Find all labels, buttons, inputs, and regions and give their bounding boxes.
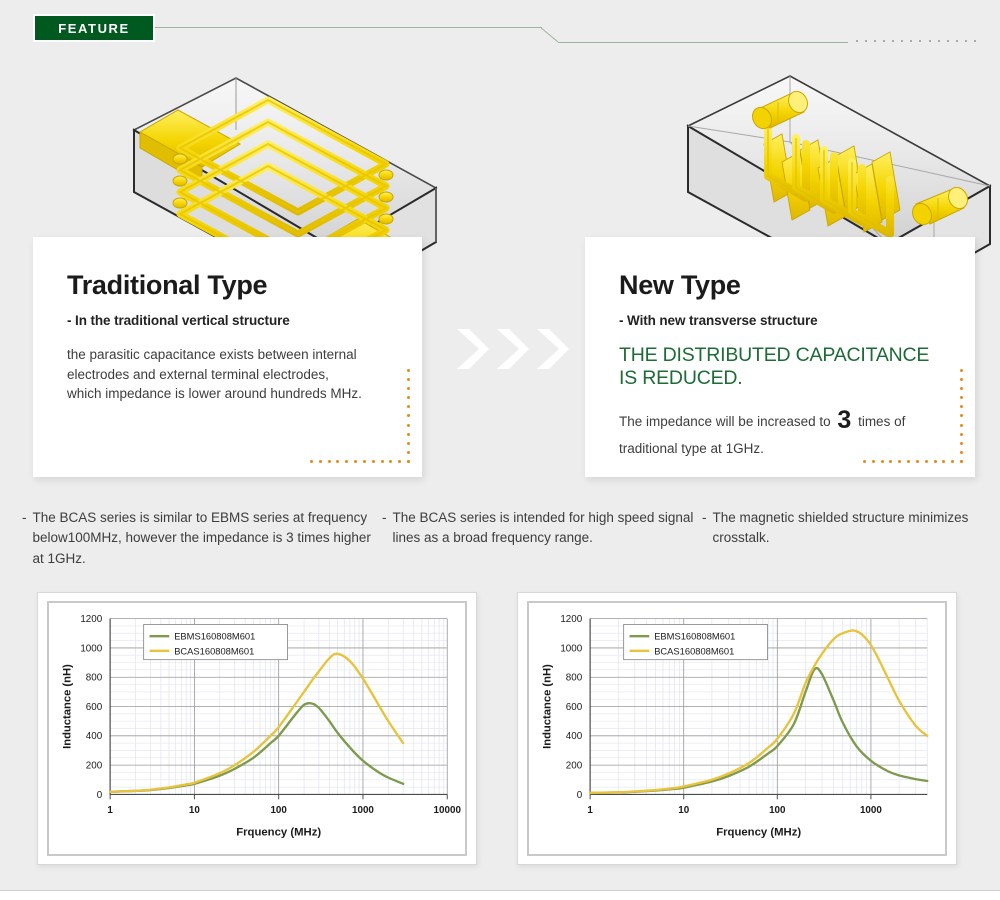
inductance-vs-frequency-chart-right: 0200400600800100012001101001000Frquency … [529, 603, 945, 854]
svg-text:400: 400 [86, 731, 103, 742]
svg-text:1000: 1000 [80, 643, 102, 654]
header-rule-lower [558, 42, 848, 43]
svg-text:EBMS160808M601: EBMS160808M601 [654, 632, 735, 642]
svg-text:EBMS160808M601: EBMS160808M601 [174, 632, 255, 642]
card-new-dotted-edge-horizontal [863, 460, 963, 463]
svg-text:200: 200 [86, 761, 103, 772]
card-new-body-mid: times [858, 414, 890, 429]
svg-text:200: 200 [566, 761, 583, 772]
bullet-text: The magnetic shielded structure minimize… [713, 508, 983, 549]
svg-text:1200: 1200 [560, 614, 582, 625]
card-new-body-pre: The impedance will be increased to [619, 414, 831, 429]
card-traditional-dotted-edge-horizontal [310, 460, 410, 463]
bullet-text: The BCAS series is similar to EBMS serie… [33, 508, 383, 569]
card-traditional-title: Traditional Type [67, 271, 396, 299]
list-item: - The BCAS series is similar to EBMS ser… [22, 508, 382, 569]
svg-text:10: 10 [678, 805, 690, 816]
card-new-subtitle: - With new transverse structure [619, 313, 949, 328]
svg-text:1000: 1000 [352, 805, 374, 816]
card-traditional-dotted-edge-vertical [407, 369, 410, 463]
svg-text:800: 800 [86, 673, 103, 684]
card-new-body-multiplier: 3 [834, 406, 854, 434]
chevron-right-icon [455, 327, 489, 371]
card-new-title: New Type [619, 271, 949, 299]
header-dot-trail [856, 38, 976, 44]
svg-text:100: 100 [769, 805, 786, 816]
card-traditional-body: the parasitic capacitance exists between… [67, 345, 367, 404]
chart-panel-right: 0200400600800100012001101001000Frquency … [517, 592, 957, 865]
card-new-body: The impedance will be increased to 3 tim… [619, 402, 939, 460]
svg-text:1000: 1000 [560, 643, 582, 654]
chevron-right-icon [535, 327, 569, 371]
inductance-vs-frequency-chart-left: 020040060080010001200110100100010000Frqu… [49, 603, 465, 854]
svg-text:BCAS160808M601: BCAS160808M601 [174, 646, 254, 656]
svg-text:Inductance (nH): Inductance (nH) [62, 664, 74, 749]
feature-page: FEATURE [0, 0, 1000, 900]
svg-text:1200: 1200 [80, 614, 102, 625]
header-rule-step [540, 26, 560, 43]
svg-text:10: 10 [189, 805, 201, 816]
chart-panel-left: 020040060080010001200110100100010000Frqu… [37, 592, 477, 865]
bullet-dash: - [382, 508, 387, 528]
svg-text:Frquency (MHz): Frquency (MHz) [236, 826, 321, 838]
feature-badge: FEATURE [33, 14, 155, 42]
card-traditional-subtitle: - In the traditional vertical structure [67, 313, 396, 328]
svg-text:BCAS160808M601: BCAS160808M601 [654, 646, 734, 656]
svg-text:600: 600 [86, 702, 103, 713]
card-new-type: New Type - With new transverse structure… [585, 237, 975, 477]
transition-chevrons [455, 326, 575, 372]
svg-text:1: 1 [107, 805, 113, 816]
svg-text:0: 0 [577, 790, 583, 801]
svg-text:Frquency (MHz): Frquency (MHz) [716, 826, 801, 838]
card-new-dotted-edge-vertical [960, 369, 963, 463]
chart-frame: 0200400600800100012001101001000Frquency … [527, 601, 947, 856]
list-item: - The magnetic shielded structure minimi… [702, 508, 982, 569]
header-rule-upper [155, 27, 542, 28]
svg-text:800: 800 [566, 673, 583, 684]
chevron-right-icon [495, 327, 529, 371]
svg-text:100: 100 [270, 805, 287, 816]
svg-text:1: 1 [587, 805, 593, 816]
chart-frame: 020040060080010001200110100100010000Frqu… [47, 601, 467, 856]
feature-badge-label: FEATURE [58, 21, 130, 36]
svg-text:600: 600 [566, 702, 583, 713]
card-traditional-type: Traditional Type - In the traditional ve… [33, 237, 422, 477]
bullet-dash: - [702, 508, 707, 528]
bullet-text: The BCAS series is intended for high spe… [393, 508, 703, 549]
footer-strip [0, 891, 1000, 900]
svg-text:10000: 10000 [434, 805, 462, 816]
svg-text:1000: 1000 [860, 805, 882, 816]
svg-text:400: 400 [566, 731, 583, 742]
svg-text:Inductance (nH): Inductance (nH) [542, 664, 554, 749]
svg-text:0: 0 [97, 790, 103, 801]
card-new-highlight: THE DISTRIBUTED CAPACITANCE IS REDUCED. [619, 344, 949, 389]
feature-bullet-list: - The BCAS series is similar to EBMS ser… [22, 508, 982, 569]
list-item: - The BCAS series is intended for high s… [382, 508, 702, 569]
bullet-dash: - [22, 508, 27, 528]
